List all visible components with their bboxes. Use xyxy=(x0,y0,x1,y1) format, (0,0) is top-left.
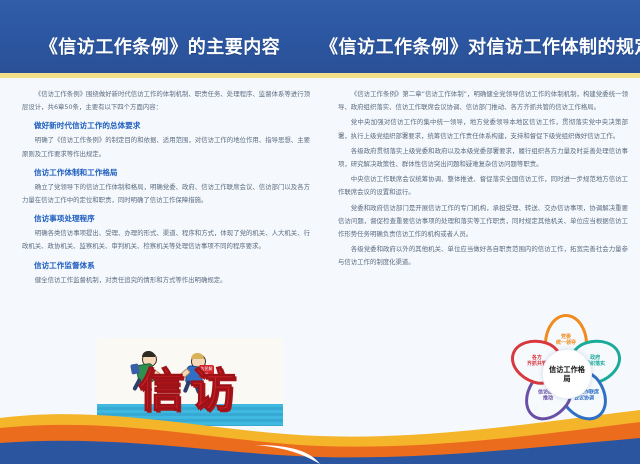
poster-page: 《信访工作条例》的主要内容 《信访工作条例》对信访工作体制的规定 《信访工作条例… xyxy=(0,0,640,464)
petal-label-line2: 推动 xyxy=(543,396,553,402)
left-body-3: 明确各类信访事项提出、受理、办理的形式、渠道、程序和方式，体现了党的机关、人大机… xyxy=(22,227,310,253)
left-panel-title: 《信访工作条例》的主要内容 xyxy=(0,32,320,62)
runner-hair xyxy=(191,353,204,359)
left-subheading-4: 信访工作监督体系 xyxy=(22,258,310,273)
left-body-1: 明确了《信访工作条例》的制定目的和依据、适用范围，对信访工作的地位作用、指导思想… xyxy=(22,134,310,160)
petal-label-line1: 政府 xyxy=(590,355,600,361)
runner-hair xyxy=(142,351,155,357)
flower-center-text: 信访工作格局 xyxy=(546,365,588,384)
right-body-1: 《信访工作条例》第二章“信访工作体制”，明确健全党领导信访工作的体制机制，构建党… xyxy=(338,88,628,114)
right-body-4: 中央信访工作联席会议统筹协调、整体推进、督促落实全国信访工作，同时进一步规范地方… xyxy=(338,173,628,199)
right-body-3: 各级政府贯彻落实上级党委和政府以及本级党委部署要求，履行组织各方力量及时妥善处理… xyxy=(338,145,628,171)
right-panel-title: 《信访工作条例》对信访工作体制的规定 xyxy=(320,32,640,62)
left-subheading-3: 信访事项处理程序 xyxy=(22,211,310,226)
left-body-2: 确立了党领导下的信访工作体制和格局，明确党委、政府、信访工作联席会议、信访部门以… xyxy=(22,181,310,207)
petal-label-line2: 统一领导 xyxy=(556,340,576,346)
petal-label-line2: 会议协调 xyxy=(574,396,594,402)
left-content-column: 《信访工作条例》围绕做好新时代信访工作的体制机制、职责任务、处理程序、监督体系等… xyxy=(22,88,310,289)
banner-gold-strip xyxy=(0,73,640,78)
left-body-4: 健全信访工作监督机制，对责任追究的情形和方式等作出明确规定。 xyxy=(22,274,310,287)
left-subheading-1: 做好新时代信访工作的总体要求 xyxy=(22,118,310,133)
left-subheading-2: 信访工作体制和工作格局 xyxy=(22,165,310,180)
left-intro-paragraph: 《信访工作条例》围绕做好新时代信访工作的体制机制、职责任务、处理程序、监督体系等… xyxy=(22,88,310,114)
petal-label-line1: 各方 xyxy=(532,355,542,361)
right-body-6: 各级党委和政府以外的其他机关、单位应当做好各自职责范围内的信访工作，拓宽完善社会… xyxy=(338,243,628,269)
right-body-2: 党中央加强对信访工作的集中统一领导，地方党委领导本地区信访工作，贯彻落实党中央决… xyxy=(338,116,628,142)
right-body-5: 党委和政府信访部门是开展信访工作的专门机构，承担受理、转送、交办信访事项，协调解… xyxy=(338,202,628,242)
flower-center-label: 信访工作格局 xyxy=(542,349,592,399)
right-content-column: 《信访工作条例》第二章“信访工作体制”，明确健全党领导信访工作的体制机制，构建党… xyxy=(338,88,628,272)
